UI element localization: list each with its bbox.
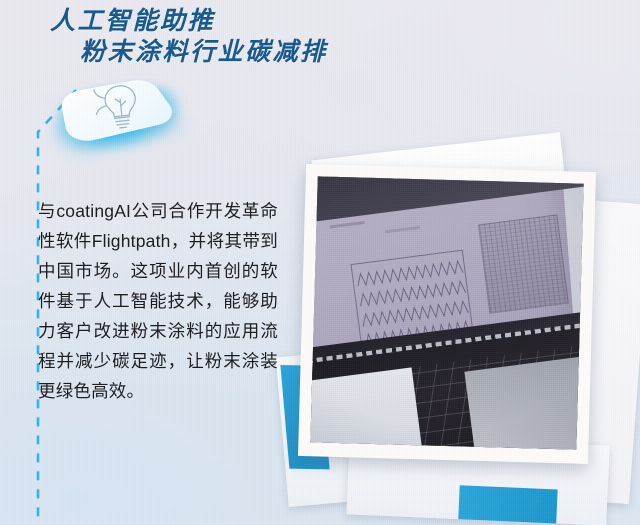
body-paragraph: 与coatingAI公司合作开发革命性软件Flightpath，并将其带到中国市… xyxy=(38,196,278,406)
photo-grain xyxy=(310,176,583,449)
poster-canvas: 人工智能助推 粉末涂料行业碳减排 与coatingAI公司合作开发革命性软件Fl… xyxy=(0,0,640,525)
page-title: 人工智能助推 粉末涂料行业碳减排 xyxy=(0,6,620,68)
photo-collage xyxy=(288,140,640,525)
laptop-photo xyxy=(310,176,583,449)
polaroid-frame xyxy=(298,164,596,464)
sheet-blue-band xyxy=(458,485,557,523)
title-line-1: 人工智能助推 xyxy=(50,6,620,36)
lightbulb-card xyxy=(50,62,182,154)
lightbulb-icon xyxy=(89,77,150,135)
